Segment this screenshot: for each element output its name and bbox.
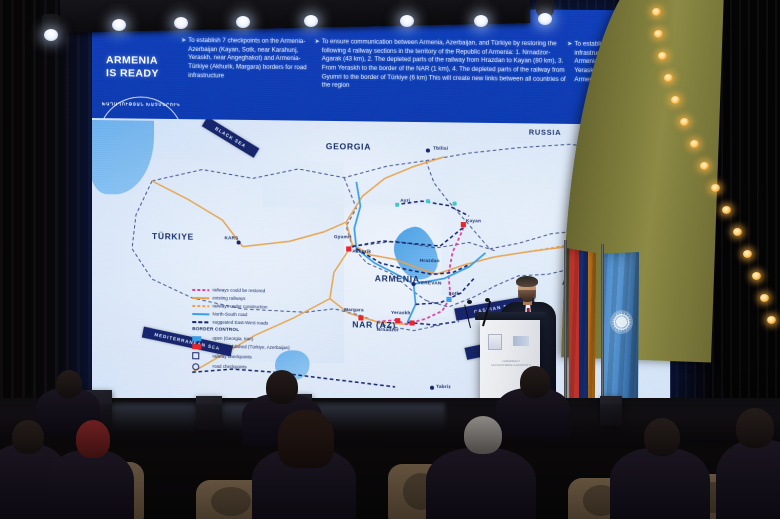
border-marker-kayan: [461, 222, 466, 227]
legend-swatch-to-establish-border-icon: [192, 344, 209, 349]
slide-title: ARMENIA IS READY: [106, 54, 184, 80]
legend-item: railways under construction: [192, 304, 354, 312]
stage-spotlight: [396, 0, 418, 28]
un-flag: [603, 252, 639, 418]
podium-caption: ՀԱՅԱՍՏԱՆԻr ԽԱՂԱՂՈՒԹՅԱՆ ԽԱՉՄԵՐՈՒԿ: [489, 360, 533, 368]
speaker-beard: [518, 290, 536, 302]
bullet-arrow-icon: ➤: [181, 37, 186, 46]
slide-title-line2: IS READY: [106, 67, 184, 81]
arch-bulb: [654, 30, 663, 38]
border-marker-akhurik: [346, 246, 351, 251]
legend-label: to be established (Türkiye, Azerbaijan): [212, 345, 289, 351]
legend-item: railway checkpoints: [192, 353, 354, 364]
legend-label: existing railways: [212, 296, 245, 301]
podium-coat-of-arms: [488, 334, 502, 350]
city-dot-kars: [237, 240, 241, 244]
conference-hall-photo: ARMENIA IS READY ➤ To establish 7 checkp…: [0, 0, 780, 519]
arch-bulb: [743, 250, 752, 258]
arch-bulb: [658, 52, 667, 60]
stage-spotlight: [170, 2, 192, 30]
legend-swatch-open-border-icon: [192, 336, 209, 341]
arch-bulb: [680, 118, 689, 126]
checkpoint-marker-northeast: [453, 202, 457, 206]
legend-label: suggested East-West roads: [212, 320, 268, 326]
legend-item: existing railways: [192, 296, 354, 304]
map-label-yerevan: YEREVAN: [418, 280, 442, 286]
audience-member-head: [520, 366, 550, 398]
arch-bulb: [722, 206, 731, 214]
speaker-hair: [516, 276, 538, 287]
arch-bulb: [671, 96, 680, 104]
bullet-text: To ensure communication between Armenia,…: [322, 38, 566, 89]
arch-bulb: [733, 228, 742, 236]
city-dot-tabriz: [430, 386, 434, 390]
map-label-georgia: GEORGIA: [326, 141, 371, 152]
slide-title-line1: ARMENIA: [106, 54, 184, 68]
armenia-flag: [566, 248, 596, 416]
legend-label: railways could be restored: [212, 288, 265, 294]
podium-caption-line2: ԽԱՂԱՂՈՒԹՅԱՆ ԽԱՉՄԵՐՈՒԿ: [489, 364, 533, 368]
map-label-kars: KARS: [224, 235, 238, 240]
bullet-checkpoints-road: ➤ To establish 7 checkpoints on the Arme…: [188, 25, 317, 82]
map-label-sotk: Sotk: [448, 291, 459, 296]
legend-label: railways under construction: [212, 304, 267, 310]
arch-bulb: [767, 316, 776, 324]
microphone-head-icon: [485, 298, 490, 302]
legend-label: North-South road: [212, 312, 247, 317]
arch-bulb: [664, 74, 673, 82]
border-marker-sotk: [446, 297, 451, 302]
legend-swatch-north-south-road-icon: [192, 313, 209, 316]
left-curtain-folds: [0, 0, 100, 440]
audience-member: [610, 448, 710, 519]
map-label-ayri: Ayri: [400, 198, 410, 203]
legend-item: to be established (Türkiye, Azerbaijan): [192, 344, 354, 353]
bullet-text: To establish 7 checkpoints on the Armeni…: [188, 37, 306, 79]
map-label-turkiye: TÜRKIYE: [152, 231, 194, 242]
arch-bulb: [752, 272, 761, 280]
map-label-hrazdan: Hrazdan: [420, 258, 440, 263]
audience-area: [0, 404, 780, 519]
microphone-stem: [482, 301, 491, 326]
audience-member-head: [76, 420, 110, 458]
legend-item: open (Georgia, Iran): [192, 336, 354, 344]
legend-label: railway checkpoints: [212, 354, 251, 359]
podium-microphones: [460, 300, 496, 330]
audience-member-head: [644, 418, 680, 456]
arch-bulb: [690, 140, 699, 148]
legend-swatch-existing-railway-icon: [192, 297, 209, 299]
bullet-arrow-icon: ➤: [567, 40, 572, 49]
audience-member-head: [736, 408, 774, 448]
legend-swatch-road-checkpoint-icon: [192, 363, 209, 370]
bullet-railway-sections: ➤ To ensure communication between Armeni…: [322, 26, 570, 93]
audience-member: [426, 448, 536, 519]
audience-member-head: [12, 420, 44, 454]
map-legend: railways could be restored existing rail…: [192, 288, 354, 377]
legend-swatch-railway-checkpoint-icon: [192, 353, 209, 360]
audience-member-head: [278, 410, 334, 468]
un-emblem-icon: [610, 310, 633, 334]
microphone-stem: [464, 305, 471, 329]
arch-bulb: [652, 8, 661, 16]
legend-swatch-restored-railway-icon: [192, 289, 209, 291]
audience-member-head: [464, 416, 502, 454]
map-label-nrnadzor: Nrnadzor: [377, 327, 399, 333]
map-label-akhurik: Akhurik: [352, 249, 371, 254]
legend-label: open (Georgia, Iran): [212, 336, 253, 341]
audience-member: [716, 440, 780, 519]
legend-swatch-east-west-road-icon: [192, 321, 209, 324]
stage-spotlight: [232, 1, 254, 29]
map-label-yeraskh: Yeraskh: [391, 310, 410, 315]
city-dot-tbilisi: [426, 148, 430, 152]
podium-event-logo: [513, 336, 529, 346]
legend-item: North-South road: [192, 312, 354, 320]
stage-spotlight: [534, 0, 556, 26]
microphone-head-icon: [467, 300, 472, 304]
legend-swatch-railway-under-construction-icon: [192, 305, 209, 307]
map-label-kayan: Kayan: [466, 218, 481, 223]
arch-bulb: [700, 162, 709, 170]
stage-spotlight: [108, 4, 130, 32]
checkpoint-marker-ayri: [395, 203, 399, 207]
map-label-gyumri: Gyumri: [334, 234, 352, 239]
map-label-tbilisi: Tbilisi: [433, 146, 448, 151]
legend-border-control-header: BORDER CONTROL: [192, 328, 354, 336]
logo-text-armenian: ԽԱՂԱՂՈՒԹՅԱՆ ԽԱՉՄԵՐՈՒԿ: [98, 101, 184, 107]
audience-member-head: [266, 370, 298, 404]
map-label-armenia: ARMENIA: [375, 273, 420, 284]
legend-label: road checkpoints: [212, 365, 246, 370]
bullet-arrow-icon: ➤: [315, 38, 320, 47]
stage-spotlight: [40, 14, 62, 42]
audience-member: [48, 450, 134, 519]
arch-bulb: [760, 294, 769, 302]
stage-spotlight: [300, 0, 322, 28]
arch-bulb: [711, 184, 720, 192]
border-marker-agarak: [409, 320, 414, 325]
checkpoint-marker-north: [426, 199, 430, 203]
stage-spotlight: [470, 0, 492, 28]
map-label-russia: RUSSIA: [529, 127, 561, 137]
audience-member-head: [56, 370, 82, 398]
map-label-tabriz: Tabriz: [436, 384, 451, 389]
